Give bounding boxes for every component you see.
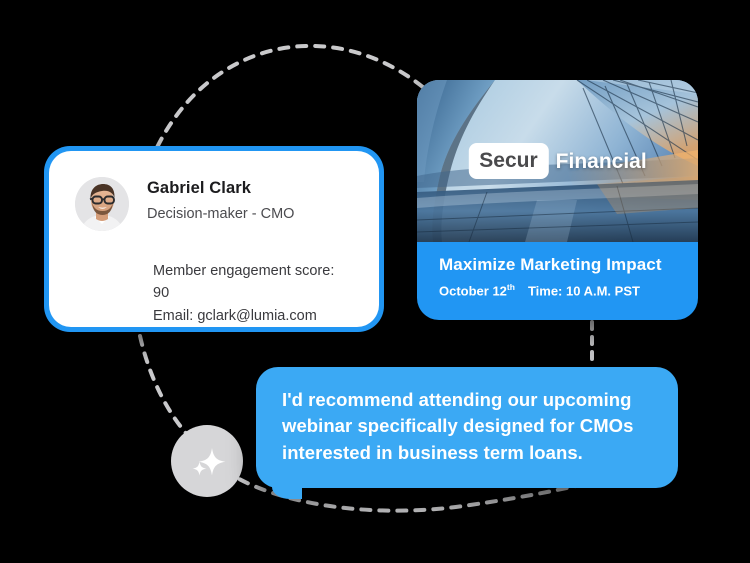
webinar-banner-image: Secur Financial: [417, 80, 698, 242]
promo-illustration-canvas: Gabriel Clark Decision-maker - CMO Membe…: [0, 0, 750, 563]
webinar-title: Maximize Marketing Impact: [439, 255, 698, 275]
webinar-schedule: October 12thTime: 10 A.M. PST: [439, 282, 698, 299]
webinar-date: October 12: [439, 284, 507, 299]
chat-message-text: I'd recommend attending our upcoming web…: [282, 387, 652, 466]
profile-header: Gabriel Clark Decision-maker - CMO: [75, 177, 353, 231]
avatar: [75, 177, 129, 231]
profile-meta: Member engagement score: 90 Email: gclar…: [153, 260, 353, 327]
logo-word-financial: Financial: [556, 151, 647, 172]
profile-card-body: Gabriel Clark Decision-maker - CMO Membe…: [49, 151, 379, 327]
engagement-score: Member engagement score: 90: [153, 260, 353, 305]
profile-name: Gabriel Clark: [147, 178, 294, 199]
sparkle-icon: [185, 439, 229, 483]
chat-bubble-tail: [272, 481, 302, 499]
webinar-footer: Maximize Marketing Impact October 12thTi…: [417, 242, 698, 320]
logo-badge-secur: Secur: [468, 143, 548, 179]
user-avatar-photo-icon: [75, 177, 129, 231]
profile-identity: Gabriel Clark Decision-maker - CMO: [147, 177, 294, 223]
profile-role: Decision-maker - CMO: [147, 205, 294, 223]
email-address: Email: gclark@lumia.com: [153, 305, 353, 327]
ai-sparkle-badge[interactable]: [171, 425, 243, 497]
brand-logo: Secur Financial: [468, 143, 646, 179]
webinar-date-suffix: th: [507, 282, 515, 292]
webinar-card[interactable]: Secur Financial Maximize Marketing Impac…: [417, 80, 698, 320]
webinar-time: Time: 10 A.M. PST: [528, 284, 640, 299]
profile-card[interactable]: Gabriel Clark Decision-maker - CMO Membe…: [44, 146, 384, 332]
chat-bubble[interactable]: I'd recommend attending our upcoming web…: [256, 367, 678, 488]
